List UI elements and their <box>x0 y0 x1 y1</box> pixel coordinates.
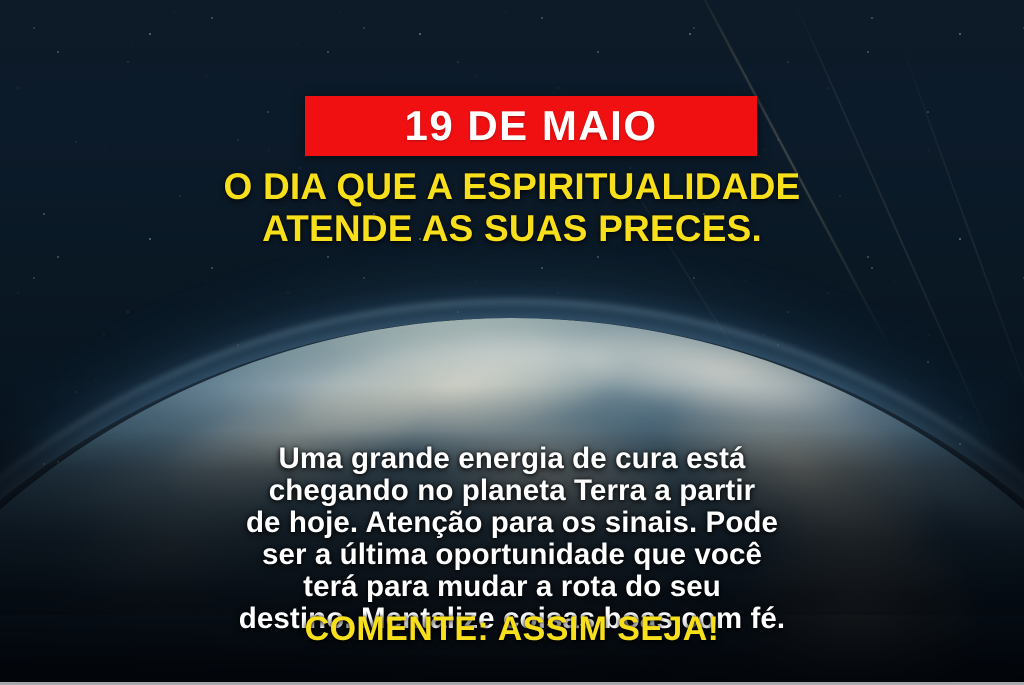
call-to-action: COMENTE: ASSIM SEJA! <box>0 612 1024 646</box>
poster-content: 19 DE MAIO O DIA QUE A ESPIRITUALIDADE A… <box>0 0 1024 685</box>
body-line-1: Uma grande energia de cura está <box>58 443 966 475</box>
body-line-2: chegando no planeta Terra a partir <box>58 475 966 507</box>
poster-canvas: 19 DE MAIO O DIA QUE A ESPIRITUALIDADE A… <box>0 0 1024 685</box>
headline-line-2: ATENDE AS SUAS PRECES. <box>52 208 972 250</box>
headline-line-1: O DIA QUE A ESPIRITUALIDADE <box>52 166 972 208</box>
date-banner-label: 19 DE MAIO <box>404 105 657 147</box>
body-paragraph: Uma grande energia de cura está chegando… <box>0 443 1024 635</box>
headline: O DIA QUE A ESPIRITUALIDADE ATENDE AS SU… <box>0 166 1024 250</box>
call-to-action-label: COMENTE: ASSIM SEJA! <box>305 610 720 648</box>
body-line-3: de hoje. Atenção para os sinais. Pode <box>58 507 966 539</box>
body-line-5: terá para mudar a rota do seu <box>58 571 966 603</box>
date-banner: 19 DE MAIO <box>305 96 757 156</box>
body-line-4: ser a última oportunidade que você <box>58 539 966 571</box>
